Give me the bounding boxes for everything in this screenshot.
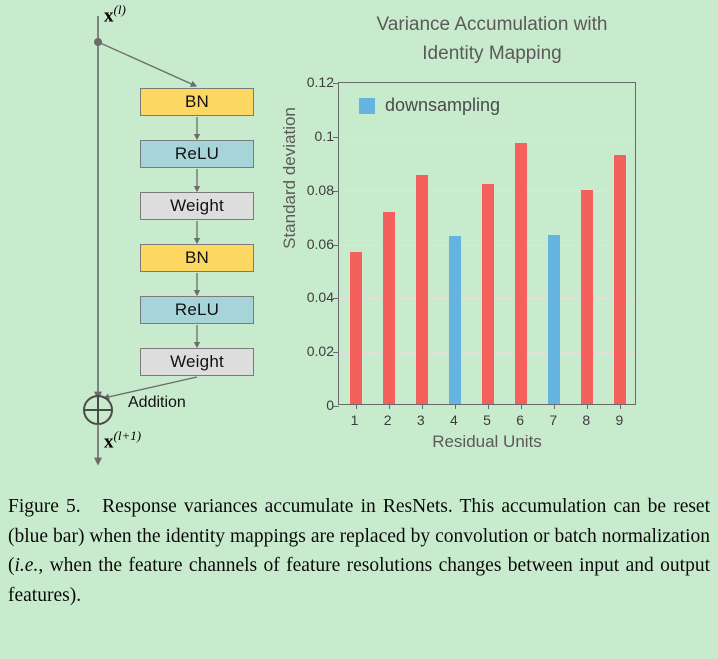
caption-body-2: , when the feature channels of feature r… — [8, 555, 710, 606]
y-axis-tick-label: 0.08 — [272, 182, 334, 198]
x-axis-tick-mark — [488, 404, 489, 409]
x-axis-tick-mark — [422, 404, 423, 409]
chart-title-line-1: Variance Accumulation with — [286, 10, 698, 39]
output-tensor-symbol: x — [104, 431, 114, 452]
legend-label-downsampling: downsampling — [385, 95, 500, 116]
bar-8[interactable] — [581, 190, 593, 404]
output-tensor-label: x(l+1) — [104, 428, 141, 453]
input-tensor-symbol: x — [104, 5, 114, 26]
block-bn-2[interactable]: BN — [140, 244, 254, 272]
x-axis-tick-label: 6 — [507, 412, 533, 428]
y-axis-tick-label: 0 — [272, 397, 334, 413]
block-relu-1[interactable]: ReLU — [140, 140, 254, 168]
chart-title-line-2: Identity Mapping — [286, 39, 698, 68]
x-axis-tick-label: 1 — [342, 412, 368, 428]
x-axis-tick-mark — [587, 404, 588, 409]
y-axis-label: Standard deviation — [280, 98, 300, 258]
block-relu-2[interactable]: ReLU — [140, 296, 254, 324]
x-axis-tick-mark — [521, 404, 522, 409]
y-axis-tick-label: 0.06 — [272, 236, 334, 252]
chart-legend: downsampling — [359, 95, 500, 116]
figure-caption: Figure 5. Response variances accumulate … — [8, 492, 710, 610]
bar-5[interactable] — [482, 184, 494, 404]
bar-9[interactable] — [614, 155, 626, 404]
caption-italic: i.e. — [15, 555, 39, 576]
bar-1[interactable] — [350, 252, 362, 404]
block-weight-2[interactable]: Weight — [140, 348, 254, 376]
caption-label: Figure 5. — [8, 496, 81, 517]
block-weight-1[interactable]: Weight — [140, 192, 254, 220]
x-axis-tick-mark — [389, 404, 390, 409]
x-axis-tick-label: 4 — [441, 412, 467, 428]
y-axis-tick-label: 0.1 — [272, 128, 334, 144]
residual-unit-diagram: x(l) BN ReLU Weight BN ReLU Weight Addit… — [0, 0, 262, 480]
x-axis-tick-label: 9 — [606, 412, 632, 428]
input-tensor-label: x(l) — [104, 2, 126, 27]
bar-4[interactable] — [449, 236, 461, 404]
y-axis-tick-label: 0.04 — [272, 289, 334, 305]
x-axis-label: Residual Units — [338, 432, 636, 452]
x-axis-tick-label: 8 — [573, 412, 599, 428]
x-axis-tick-mark — [554, 404, 555, 409]
chart-title: Variance Accumulation with Identity Mapp… — [286, 10, 698, 68]
bar-3[interactable] — [416, 175, 428, 404]
block-bn-1[interactable]: BN — [140, 88, 254, 116]
x-axis-tick-label: 2 — [375, 412, 401, 428]
plot-area: downsampling — [338, 82, 636, 405]
x-axis-tick-mark — [620, 404, 621, 409]
addition-label: Addition — [128, 394, 186, 412]
x-axis-tick-mark — [455, 404, 456, 409]
x-axis-tick-label: 5 — [474, 412, 500, 428]
legend-swatch-downsampling — [359, 98, 375, 114]
output-tensor-superscript: (l+1) — [114, 428, 142, 443]
x-axis-tick-mark — [356, 404, 357, 409]
input-tensor-superscript: (l) — [114, 2, 126, 17]
bar-7[interactable] — [548, 235, 560, 404]
variance-accumulation-chart: Variance Accumulation with Identity Mapp… — [262, 0, 718, 480]
y-axis-tick-label: 0.02 — [272, 343, 334, 359]
bar-2[interactable] — [383, 212, 395, 404]
gridline — [339, 137, 635, 138]
y-axis-tick-label: 0.12 — [272, 74, 334, 90]
x-axis-tick-label: 7 — [540, 412, 566, 428]
bar-6[interactable] — [515, 143, 527, 404]
x-axis-tick-label: 3 — [408, 412, 434, 428]
